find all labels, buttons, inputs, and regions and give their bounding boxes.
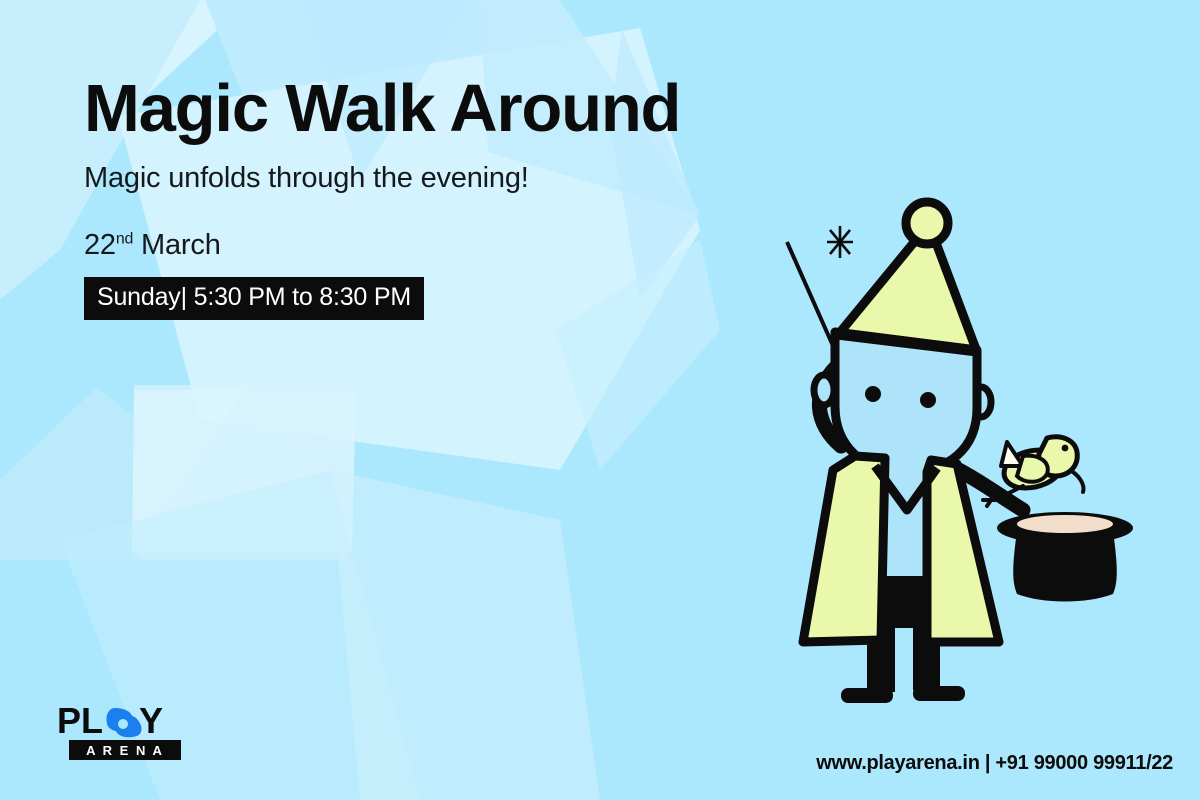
foot-left (841, 688, 893, 703)
cape-left-panel (803, 456, 885, 642)
logo-wordmark-post: Y (139, 700, 163, 741)
bird-wing (1017, 456, 1048, 482)
eye-right (920, 392, 936, 408)
logo-pinwheel-icon (106, 708, 141, 737)
hat-pompom (906, 202, 948, 244)
bird-eye (1062, 445, 1069, 452)
poster-subtitle: Magic unfolds through the evening! (84, 162, 804, 195)
footer-contact[interactable]: www.playarena.in | +91 99000 99911/22 (816, 752, 1173, 775)
top-hat-opening (1017, 515, 1113, 533)
logo-wordmark-pre: PL (57, 700, 103, 741)
bird-tail (1073, 472, 1084, 492)
page-title: Magic Walk Around (84, 74, 804, 144)
playarena-logo[interactable]: PL Y A R E N A (57, 700, 197, 762)
shard-bottom-center (330, 470, 600, 800)
event-time-badge: Sunday| 5:30 PM to 8:30 PM (84, 277, 424, 320)
foot-right (913, 686, 965, 701)
logo-sub-label: A R E N A (86, 743, 164, 758)
cone-hat (837, 202, 977, 352)
event-date-day: 22 (84, 229, 116, 261)
feet (841, 686, 965, 703)
event-date-ordinal: nd (116, 230, 133, 247)
poster-text-block: Magic Walk Around Magic unfolds through … (84, 74, 804, 320)
sparkle-icon (827, 226, 853, 258)
poster-canvas: Magic Walk Around Magic unfolds through … (0, 0, 1200, 800)
black-top-hat (997, 512, 1133, 602)
magician-illustration (755, 180, 1165, 750)
event-date: 22nd March (84, 229, 804, 262)
event-date-month: March (133, 229, 220, 261)
eye-left (865, 386, 881, 402)
